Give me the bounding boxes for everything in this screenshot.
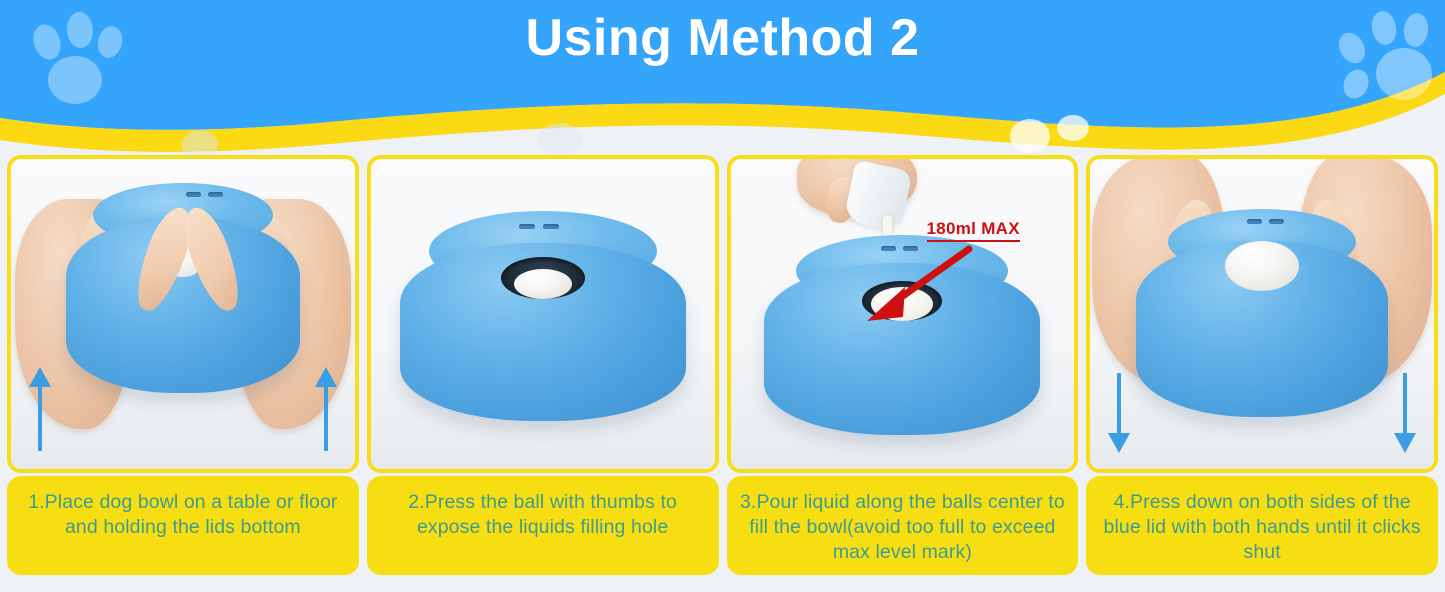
step-2-caption: 2.Press the ball with thumbs to expose t… <box>367 476 719 575</box>
step-4-photo <box>1086 155 1438 473</box>
white-ball <box>514 269 572 299</box>
vent-slot <box>1269 219 1284 224</box>
step-panel-1: 1.Place dog bowl on a table or floor and… <box>7 155 359 575</box>
vent-slot <box>1247 219 1262 224</box>
steps-row: 1.Place dog bowl on a table or floor and… <box>7 155 1438 575</box>
infographic-page: Using Method 2 <box>0 0 1445 592</box>
step-panel-2: 2.Press the ball with thumbs to expose t… <box>367 155 719 575</box>
down-arrow-line <box>1117 373 1121 435</box>
step-4-caption: 4.Press down on both sides of the blue l… <box>1086 476 1438 575</box>
up-arrow-line <box>38 385 42 451</box>
step-3-caption: 3.Pour liquid along the balls center to … <box>727 476 1079 575</box>
step-panel-4: 4.Press down on both sides of the blue l… <box>1086 155 1438 575</box>
down-arrow-line <box>1403 373 1407 435</box>
vent-slot <box>186 192 201 197</box>
down-arrow-head <box>1394 433 1416 453</box>
vent-slot <box>543 224 559 229</box>
step-1-caption: 1.Place dog bowl on a table or floor and… <box>7 476 359 575</box>
step-1-photo <box>7 155 359 473</box>
max-level-arrow-icon <box>851 241 981 333</box>
scene-pouring-liquid: 180ml MAX <box>731 159 1075 469</box>
step-3-photo: 180ml MAX <box>727 155 1079 473</box>
step-2-photo <box>367 155 719 473</box>
step-panel-3: 180ml MAX 3.Pour liquid along the balls … <box>727 155 1079 575</box>
max-level-label: 180ml MAX <box>927 219 1020 242</box>
scene-hands-holding-bowl <box>11 159 355 469</box>
vent-slot <box>519 224 535 229</box>
vent-slot <box>208 192 223 197</box>
scene-bowl-open-hole <box>371 159 715 469</box>
up-arrow-head <box>315 367 337 387</box>
down-arrow-head <box>1108 433 1130 453</box>
white-ball <box>1225 241 1299 291</box>
up-arrow-head <box>29 367 51 387</box>
up-arrow-line <box>324 385 328 451</box>
page-title: Using Method 2 <box>0 4 1445 72</box>
header-banner: Using Method 2 <box>0 0 1445 160</box>
scene-hands-pressing-lid <box>1090 159 1434 469</box>
